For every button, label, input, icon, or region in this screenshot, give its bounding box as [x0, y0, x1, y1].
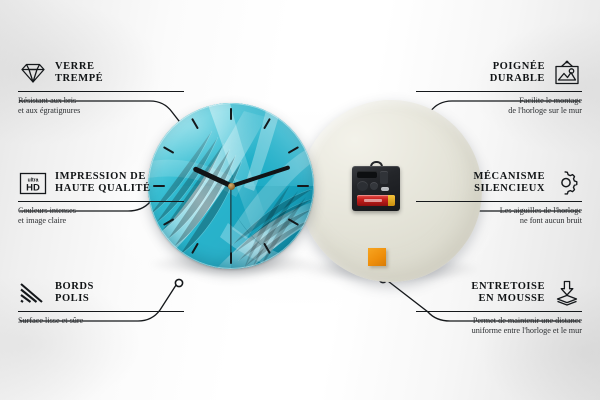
feature-header: BORDS POLIS [18, 278, 184, 308]
feature-description: Les aiguilles de l'horloge ne font aucun… [416, 206, 582, 226]
feature-foam-spacer: ENTRETOISE EN MOUSSE Permet de maintenir… [416, 278, 582, 336]
battery-band [364, 199, 382, 202]
feature-title: ENTRETOISE EN MOUSSE [471, 281, 545, 306]
press-down-stack-icon [552, 280, 582, 306]
feature-divider [416, 311, 582, 312]
feature-description: Surface lisse et sûre [18, 316, 184, 326]
ultra-hd-label-bottom: HD [26, 182, 40, 193]
feature-description: Résistant aux bris et aux égratignures [18, 96, 184, 116]
feature-description: Facilite le montage de l'horloge sur le … [416, 96, 582, 116]
feature-description: Permet de maintenir une distance uniform… [416, 316, 582, 336]
infographic-canvas: VERRE TREMPÉ Résistant aux bris et aux é… [0, 0, 600, 400]
aa-battery [357, 195, 395, 206]
feature-tempered-glass: VERRE TREMPÉ Résistant aux bris et aux é… [18, 58, 184, 116]
hour-tick [230, 108, 232, 186]
diamond-icon [18, 61, 48, 85]
hour-tick [231, 185, 309, 187]
gear-icon [552, 170, 582, 196]
feature-header: MÉCANISME SILENCIEUX [416, 168, 582, 198]
feature-title: BORDS POLIS [55, 281, 94, 306]
feature-hd-print: ultra HD IMPRESSION DE HAUTE QUALITÉ Cou… [18, 168, 184, 226]
clock-mechanism [352, 166, 400, 211]
hand-hub [228, 183, 235, 190]
feature-title: IMPRESSION DE HAUTE QUALITÉ [55, 171, 151, 196]
feature-header: POIGNÉE DURABLE [416, 58, 582, 88]
mechanism-detail [357, 171, 377, 178]
feature-divider [18, 201, 184, 202]
feature-header: ENTRETOISE EN MOUSSE [416, 278, 582, 308]
feature-divider [416, 201, 582, 202]
feature-title: MÉCANISME SILENCIEUX [474, 171, 545, 196]
ultra-hd-icon: ultra HD [18, 171, 48, 196]
hanging-frame-icon [552, 60, 582, 86]
foam-spacer-pad [368, 248, 386, 266]
feature-divider [18, 91, 184, 92]
feature-header: ultra HD IMPRESSION DE HAUTE QUALITÉ [18, 168, 184, 198]
polished-edge-icon [18, 281, 48, 305]
feature-handle: POIGNÉE DURABLE Facilite le montage de l… [416, 58, 582, 116]
feature-divider [416, 91, 582, 92]
feature-title: VERRE TREMPÉ [55, 61, 103, 86]
mechanism-detail [381, 187, 389, 191]
feature-description: Couleurs intenses et image claire [18, 206, 184, 226]
mechanism-detail [357, 181, 368, 191]
feature-mechanism: MÉCANISME SILENCIEUX Les aiguilles de l'… [416, 168, 582, 226]
feature-header: VERRE TREMPÉ [18, 58, 184, 88]
feature-polished-edges: BORDS POLIS Surface lisse et sûre [18, 278, 184, 326]
mechanism-housing [352, 166, 400, 211]
feature-title: POIGNÉE DURABLE [490, 61, 545, 86]
mechanism-detail [370, 182, 378, 190]
feature-divider [18, 311, 184, 312]
mechanism-detail [380, 171, 388, 184]
